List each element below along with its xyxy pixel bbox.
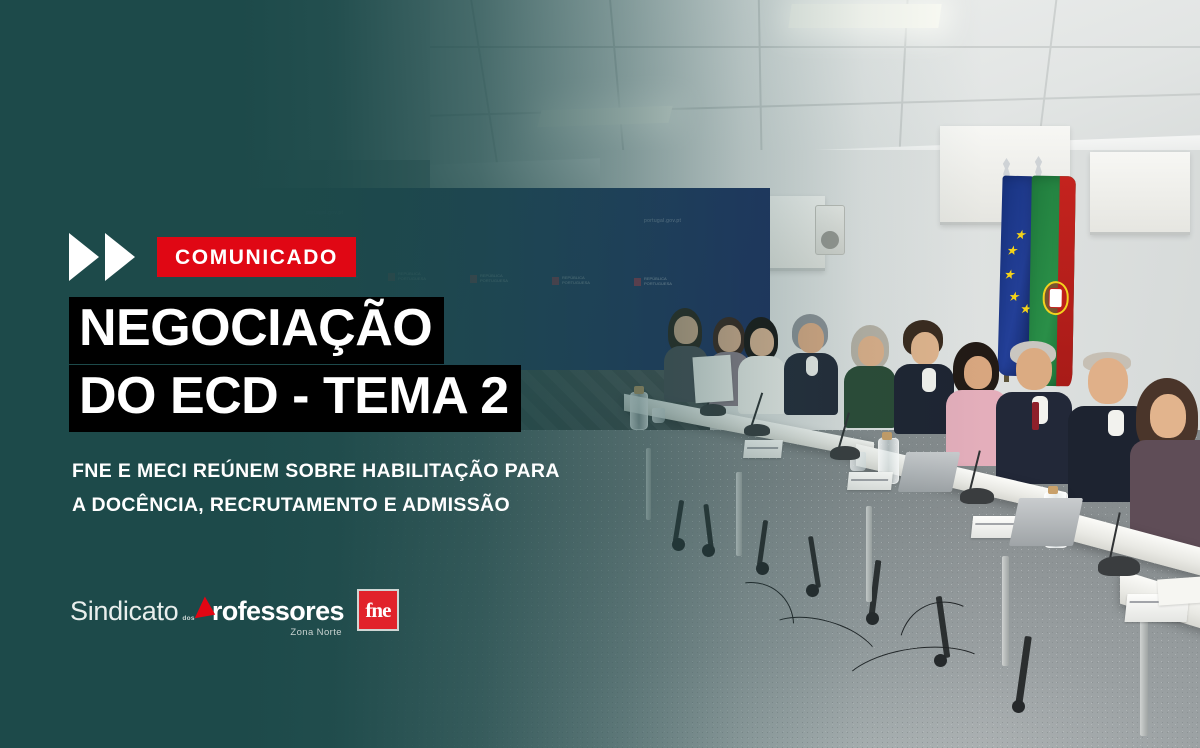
poster-content: COMUNICADO NEGOCIAÇÃO DO ECD - TEMA 2 FN… (0, 0, 1200, 748)
subtitle-line-1: FNE E MECI REÚNEM SOBRE HABILITAÇÃO PARA (72, 455, 560, 489)
subtitle-line-2: A DOCÊNCIA, RECRUTAMENTO E ADMISSÃO (72, 489, 560, 523)
page-title: NEGOCIAÇÃO DO ECD - TEMA 2 (69, 297, 521, 433)
page-subtitle: FNE E MECI REÚNEM SOBRE HABILITAÇÃO PARA… (72, 455, 560, 522)
title-line-2: DO ECD - TEMA 2 (69, 365, 521, 432)
logo-zona-norte-text: Zona Norte (290, 627, 342, 638)
title-line-1: NEGOCIAÇÃO (69, 297, 444, 364)
logo-wordmark: Sindicato dos rofessores Zona Norte (70, 596, 344, 625)
logo-p-arrow (199, 596, 216, 625)
status-badge: COMUNICADO (157, 237, 356, 277)
logo-dos-text: dos (182, 616, 194, 622)
organization-logo: Sindicato dos rofessores Zona Norte fne (70, 589, 399, 631)
logo-professores-text: rofessores (212, 598, 344, 625)
fne-logo-mark: fne (357, 589, 399, 631)
communication-poster: portugal.gov.pt portugal.gov.pt REPÚBLIC… (0, 0, 1200, 748)
kicker-row: COMUNICADO (69, 233, 356, 281)
logo-sindicato-text: Sindicato (70, 598, 178, 625)
fast-forward-icon (69, 233, 135, 281)
